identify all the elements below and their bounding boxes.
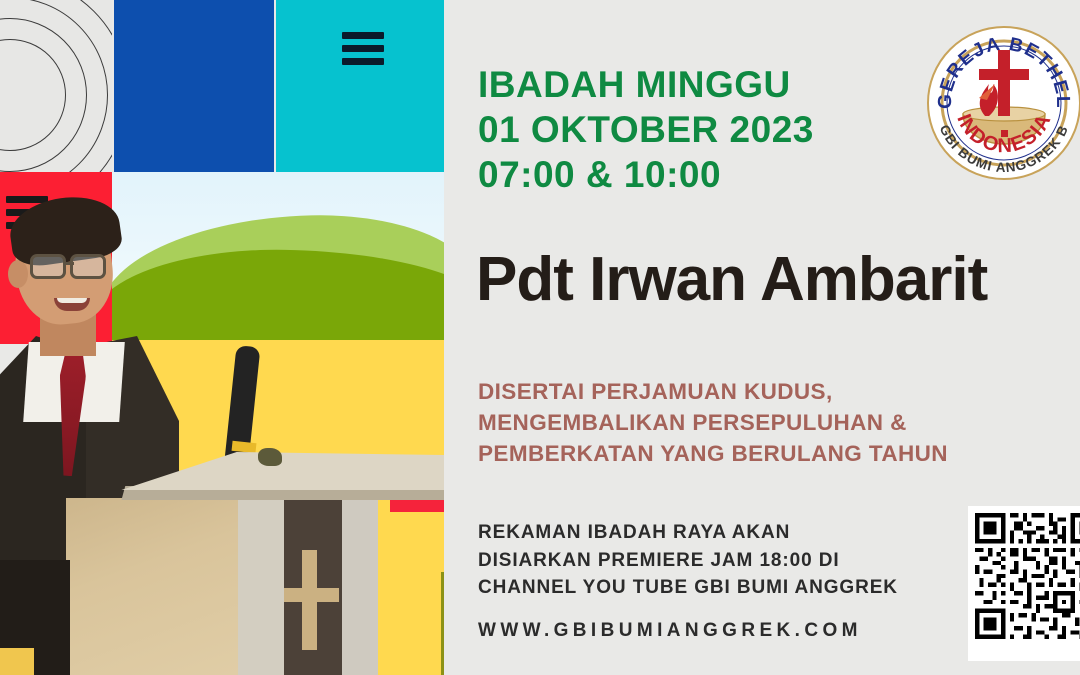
cyan-color-block xyxy=(276,0,444,172)
ring-4 xyxy=(0,0,112,172)
graphic-collage-panel xyxy=(0,0,444,675)
teeth xyxy=(57,298,87,303)
heading-line-1: IBADAH MINGGU xyxy=(478,62,814,107)
heading-line-3: 07:00 & 10:00 xyxy=(478,152,814,197)
blue-color-block xyxy=(114,0,274,172)
ear xyxy=(8,260,28,288)
eyeglasses-bridge xyxy=(66,262,74,265)
heading-line-2: 01 OKTOBER 2023 xyxy=(478,107,814,152)
speaker-name: Pdt Irwan Ambarit xyxy=(476,244,987,315)
eyeglasses-left-lens xyxy=(30,254,66,279)
website-url[interactable]: WWW.GBIBUMIANGGREK.COM xyxy=(478,620,862,642)
church-logo: GBI BUMI ANGGREK B GEREJA BETHEL INDONES… xyxy=(923,22,1080,184)
qr-code-matrix xyxy=(975,513,1080,639)
notice-line-3: CHANNEL YOU TUBE GBI BUMI ANGGREK xyxy=(478,574,898,602)
three-bars-icon xyxy=(342,32,384,65)
pulpit-front-panel xyxy=(66,498,238,675)
service-heading: IBADAH MINGGU 01 OKTOBER 2023 07:00 & 10… xyxy=(478,62,814,197)
subtitle-line-1: DISERTAI PERJAMUAN KUDUS, xyxy=(478,376,948,407)
wooden-cross-icon-horizontal xyxy=(281,588,339,602)
pulpit-side-right xyxy=(342,492,378,675)
red-corner-accent xyxy=(390,498,444,512)
eyeglasses-right-lens xyxy=(70,254,106,279)
notice-line-2: DISIARKAN PREMIERE JAM 18:00 DI xyxy=(478,547,898,575)
concentric-circles-icon xyxy=(0,0,112,172)
subtitle-line-3: PEMBERKATAN YANG BERULANG TAHUN xyxy=(478,438,948,469)
service-subtitle: DISERTAI PERJAMUAN KUDUS, MENGEMBALIKAN … xyxy=(478,376,948,469)
small-object-on-pulpit xyxy=(258,448,282,466)
notice-line-1: REKAMAN IBADAH RAYA AKAN xyxy=(478,519,898,547)
subtitle-line-2: MENGEMBALIKAN PERSEPULUHAN & xyxy=(478,407,948,438)
pulpit-side-left xyxy=(232,496,284,675)
broadcast-notice: REKAMAN IBADAH RAYA AKAN DISIARKAN PREMI… xyxy=(478,519,898,602)
floor-yellow-corner xyxy=(0,648,34,675)
service-announcement-banner: IBADAH MINGGU 01 OKTOBER 2023 07:00 & 10… xyxy=(0,0,1080,675)
qr-code[interactable] xyxy=(968,506,1080,661)
